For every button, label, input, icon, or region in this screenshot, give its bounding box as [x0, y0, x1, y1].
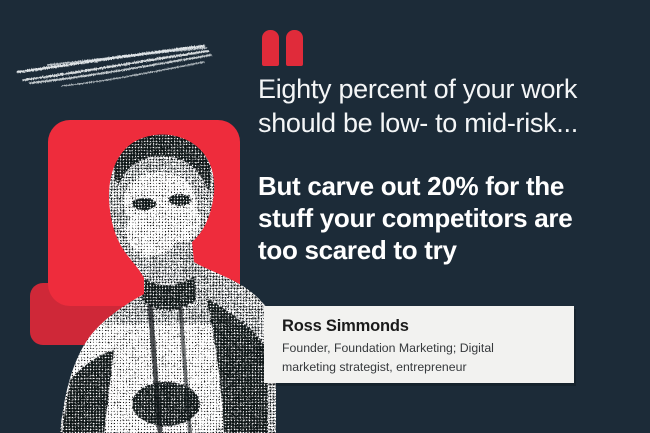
- quote-card-graphic: Eighty percent of your work should be lo…: [0, 0, 650, 433]
- author-name: Ross Simmonds: [282, 315, 558, 337]
- quote-emphasis-line-2: stuff your competitors are: [258, 202, 638, 234]
- quote-emphasis-line-1: But carve out 20% for the: [258, 170, 638, 202]
- author-role-line-2: marketing strategist, entrepreneur: [282, 358, 558, 377]
- quote-emphasis-line-3: too scared to try: [258, 234, 638, 266]
- quote-lead-line-1: Eighty percent of your work: [258, 72, 638, 106]
- portrait-image: [56, 128, 276, 433]
- quote-mark-icon: [262, 30, 308, 70]
- author-role: Founder, Foundation Marketing; Digital m…: [282, 339, 558, 377]
- quote-emphasis-text: But carve out 20% for the stuff your com…: [258, 170, 638, 266]
- author-role-line-1: Founder, Foundation Marketing; Digital: [282, 339, 558, 358]
- quote-lead-line-2: should be low- to mid-risk...: [258, 106, 638, 140]
- quote-lead-text: Eighty percent of your work should be lo…: [258, 72, 638, 140]
- scribble-decoration-icon: [8, 22, 228, 94]
- attribution-card: Ross Simmonds Founder, Foundation Market…: [264, 306, 574, 383]
- quote-text-block: Eighty percent of your work should be lo…: [258, 72, 638, 266]
